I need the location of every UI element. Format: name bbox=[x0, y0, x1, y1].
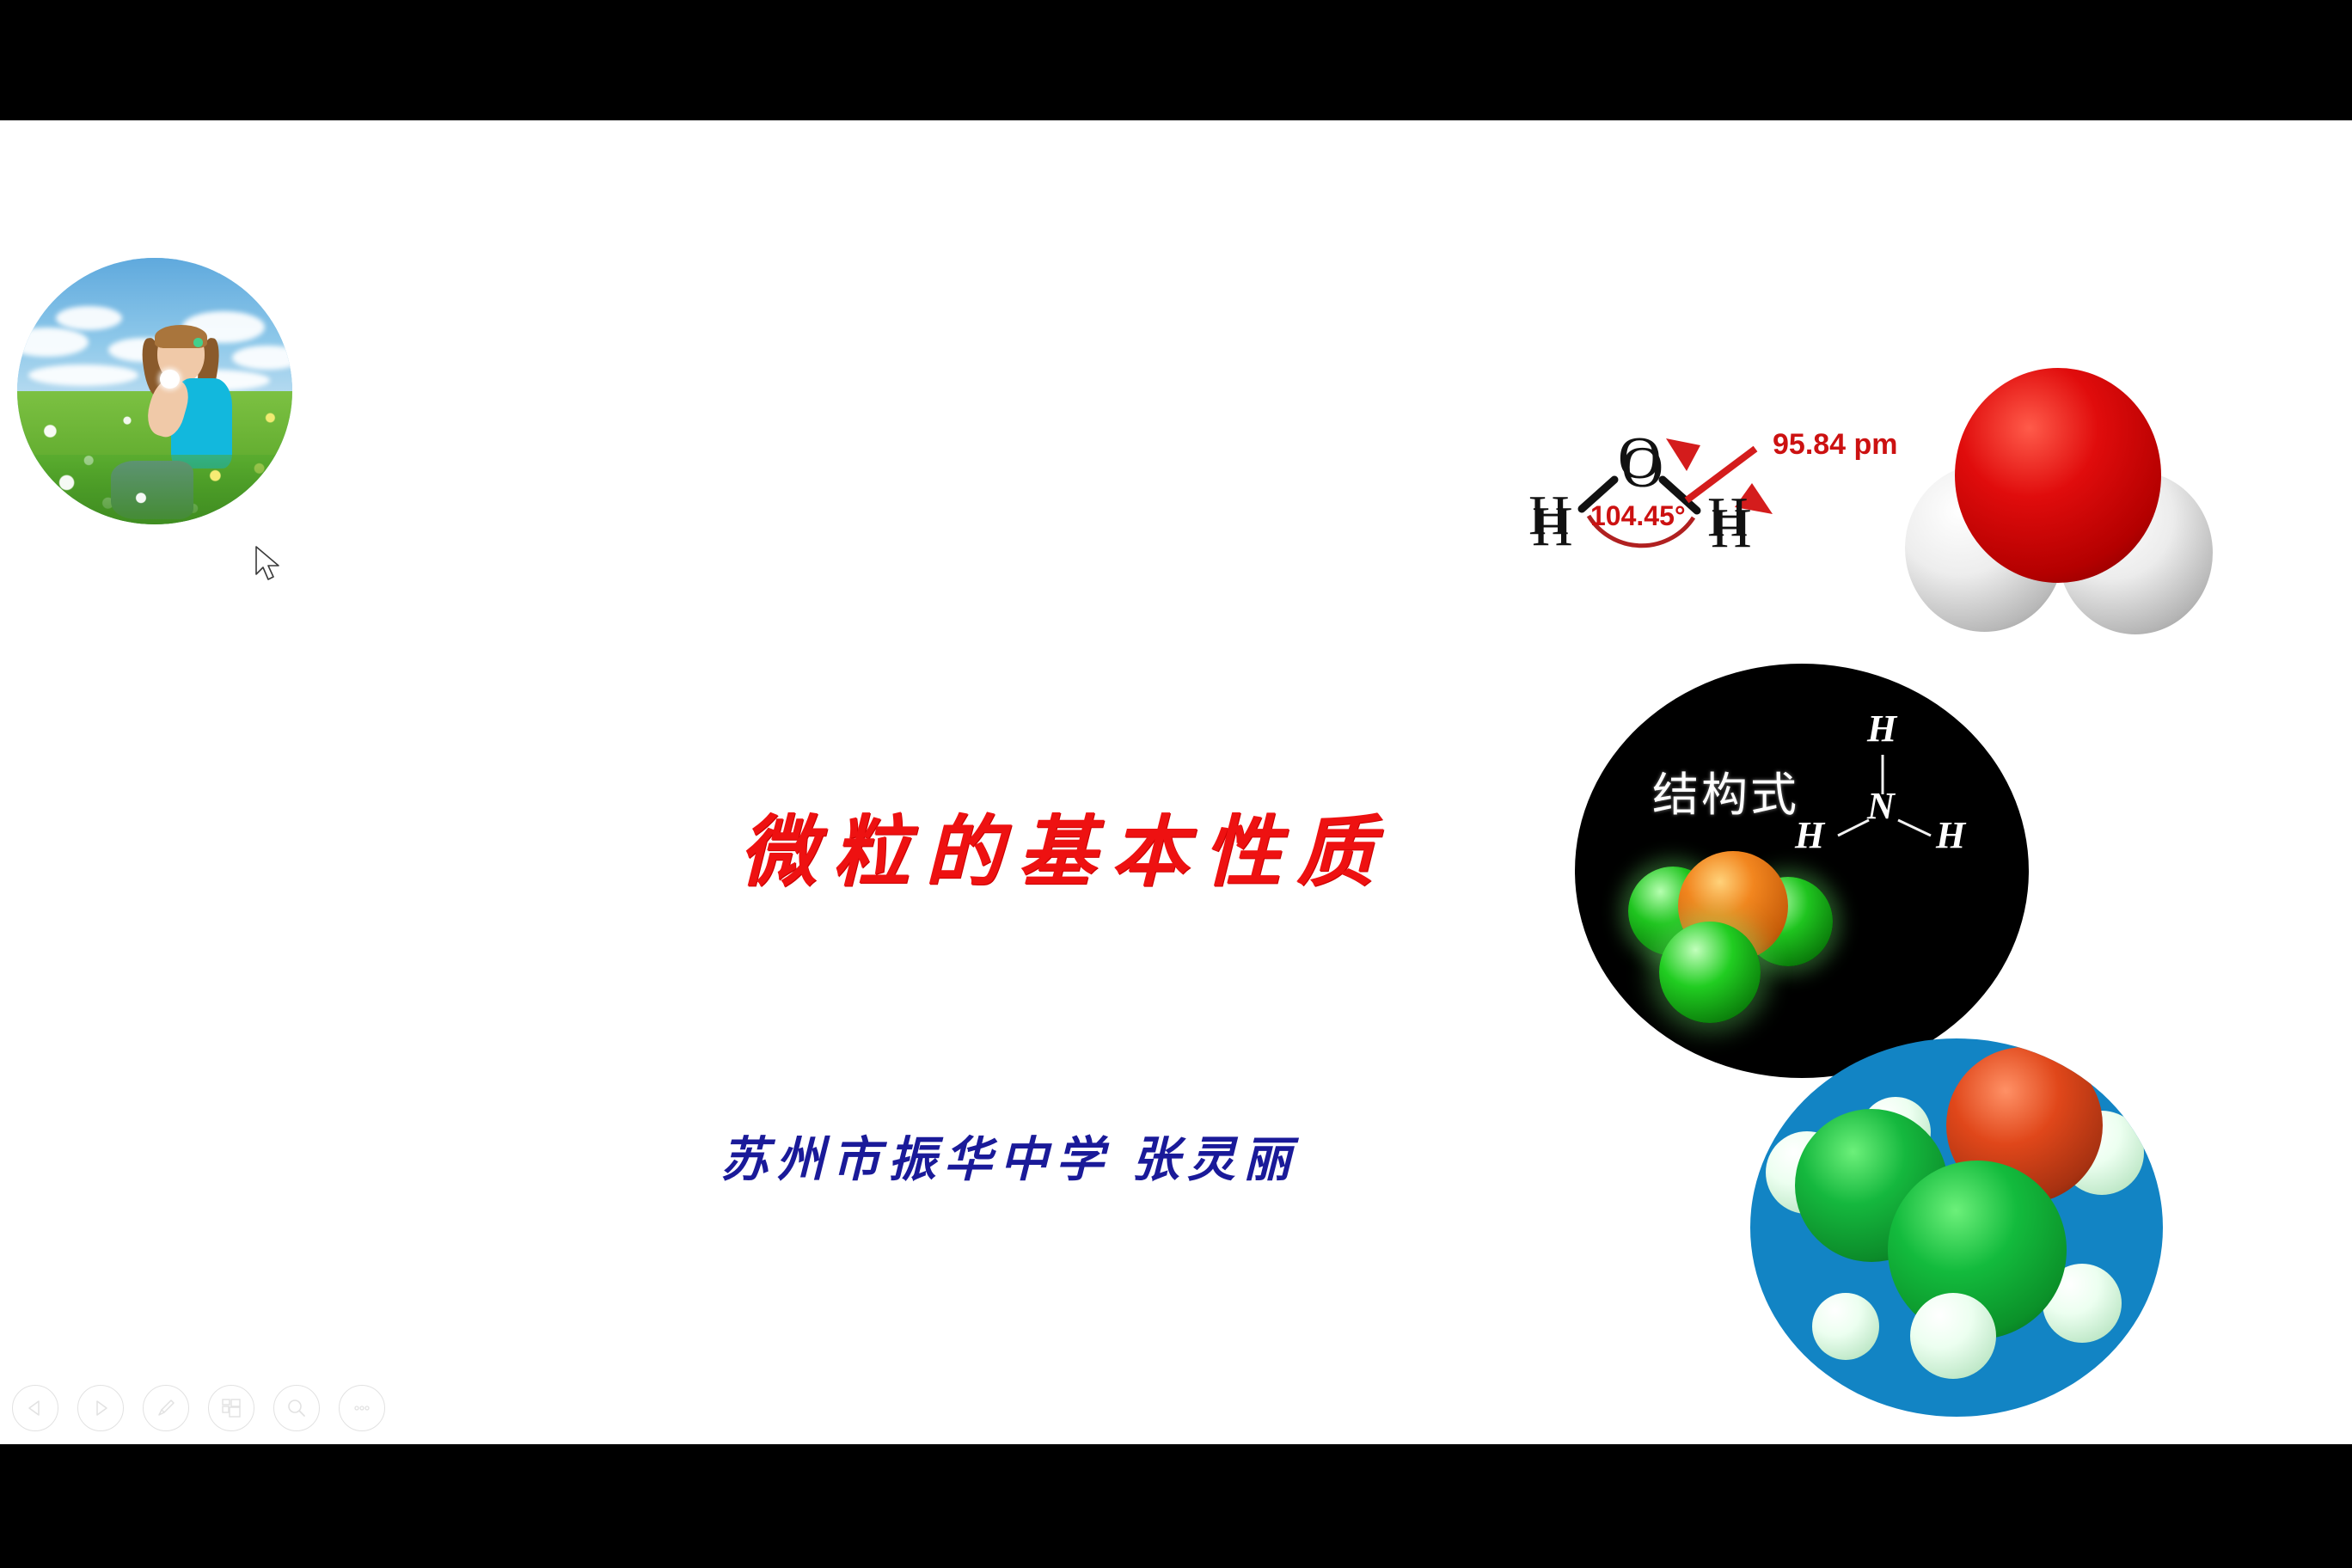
ammonia-structural-formula: H N H H bbox=[1790, 705, 2005, 877]
triangle-right-icon bbox=[91, 1399, 110, 1418]
water-space-filling-model bbox=[1905, 368, 2214, 677]
letterbox-bar-top bbox=[0, 0, 2352, 120]
ellipsis-icon bbox=[351, 1397, 373, 1419]
cloud-shape bbox=[28, 364, 138, 386]
atom-label-o: O bbox=[1621, 434, 1663, 499]
bond-length-arrow-line bbox=[1687, 449, 1755, 500]
zoom-tool-button[interactable] bbox=[273, 1385, 320, 1431]
atom-label-h-left: H bbox=[1532, 495, 1573, 558]
ethanol-model-panel bbox=[1750, 1038, 2163, 1417]
hydrogen-sphere bbox=[1812, 1293, 1879, 1360]
pen-tool-button[interactable] bbox=[143, 1385, 189, 1431]
next-slide-button[interactable] bbox=[77, 1385, 124, 1431]
presenter-toolbar bbox=[0, 1372, 442, 1444]
slide-title: 微粒的基本性质 bbox=[739, 815, 1513, 892]
slides-grid-icon bbox=[220, 1397, 242, 1419]
oxygen-sphere bbox=[1955, 368, 2161, 583]
structural-formula-label: 结构式 bbox=[1652, 756, 1799, 824]
water-structural-diagram: H O H H O H 95.84 pm 104.45° bbox=[1515, 404, 1893, 619]
bond-length-arrowhead-up bbox=[1666, 438, 1700, 471]
slide-canvas[interactable]: 微粒的基本性质 苏州市振华中学 张灵丽 H O H H bbox=[0, 120, 2352, 1444]
cloud-shape bbox=[56, 306, 122, 330]
triangle-left-icon bbox=[26, 1399, 45, 1418]
more-options-button[interactable] bbox=[339, 1385, 385, 1431]
presentation-viewport: 微粒的基本性质 苏州市振华中学 张灵丽 H O H H bbox=[0, 0, 2352, 1568]
ammonia-structure-panel: 结构式 H N H H bbox=[1575, 664, 2029, 1078]
atom-label-h-right: H bbox=[1711, 497, 1752, 560]
atom-label-h-top: H bbox=[1867, 707, 1896, 750]
magnifier-icon bbox=[285, 1397, 308, 1419]
hydrogen-sphere bbox=[1659, 922, 1761, 1023]
slide-subtitle: 苏州市振华中学 张灵丽 bbox=[720, 1136, 1494, 1185]
foreground-grass bbox=[17, 455, 292, 524]
pen-icon bbox=[155, 1397, 177, 1419]
hydrogen-sphere bbox=[1910, 1293, 1996, 1379]
held-flower bbox=[160, 370, 179, 389]
atom-label-h-right: H bbox=[1936, 813, 1965, 857]
bond-angle-arc bbox=[1589, 516, 1694, 546]
slide-overview-button[interactable] bbox=[208, 1385, 254, 1431]
letterbox-bar-bottom bbox=[0, 1444, 2352, 1568]
girl-hair-tie bbox=[193, 338, 203, 347]
previous-slide-button[interactable] bbox=[12, 1385, 58, 1431]
meadow-girl-photo bbox=[17, 258, 292, 524]
bond-left-line bbox=[1582, 480, 1614, 509]
atom-label-h-left: H bbox=[1795, 813, 1824, 857]
atom-label-n: N bbox=[1867, 784, 1895, 828]
